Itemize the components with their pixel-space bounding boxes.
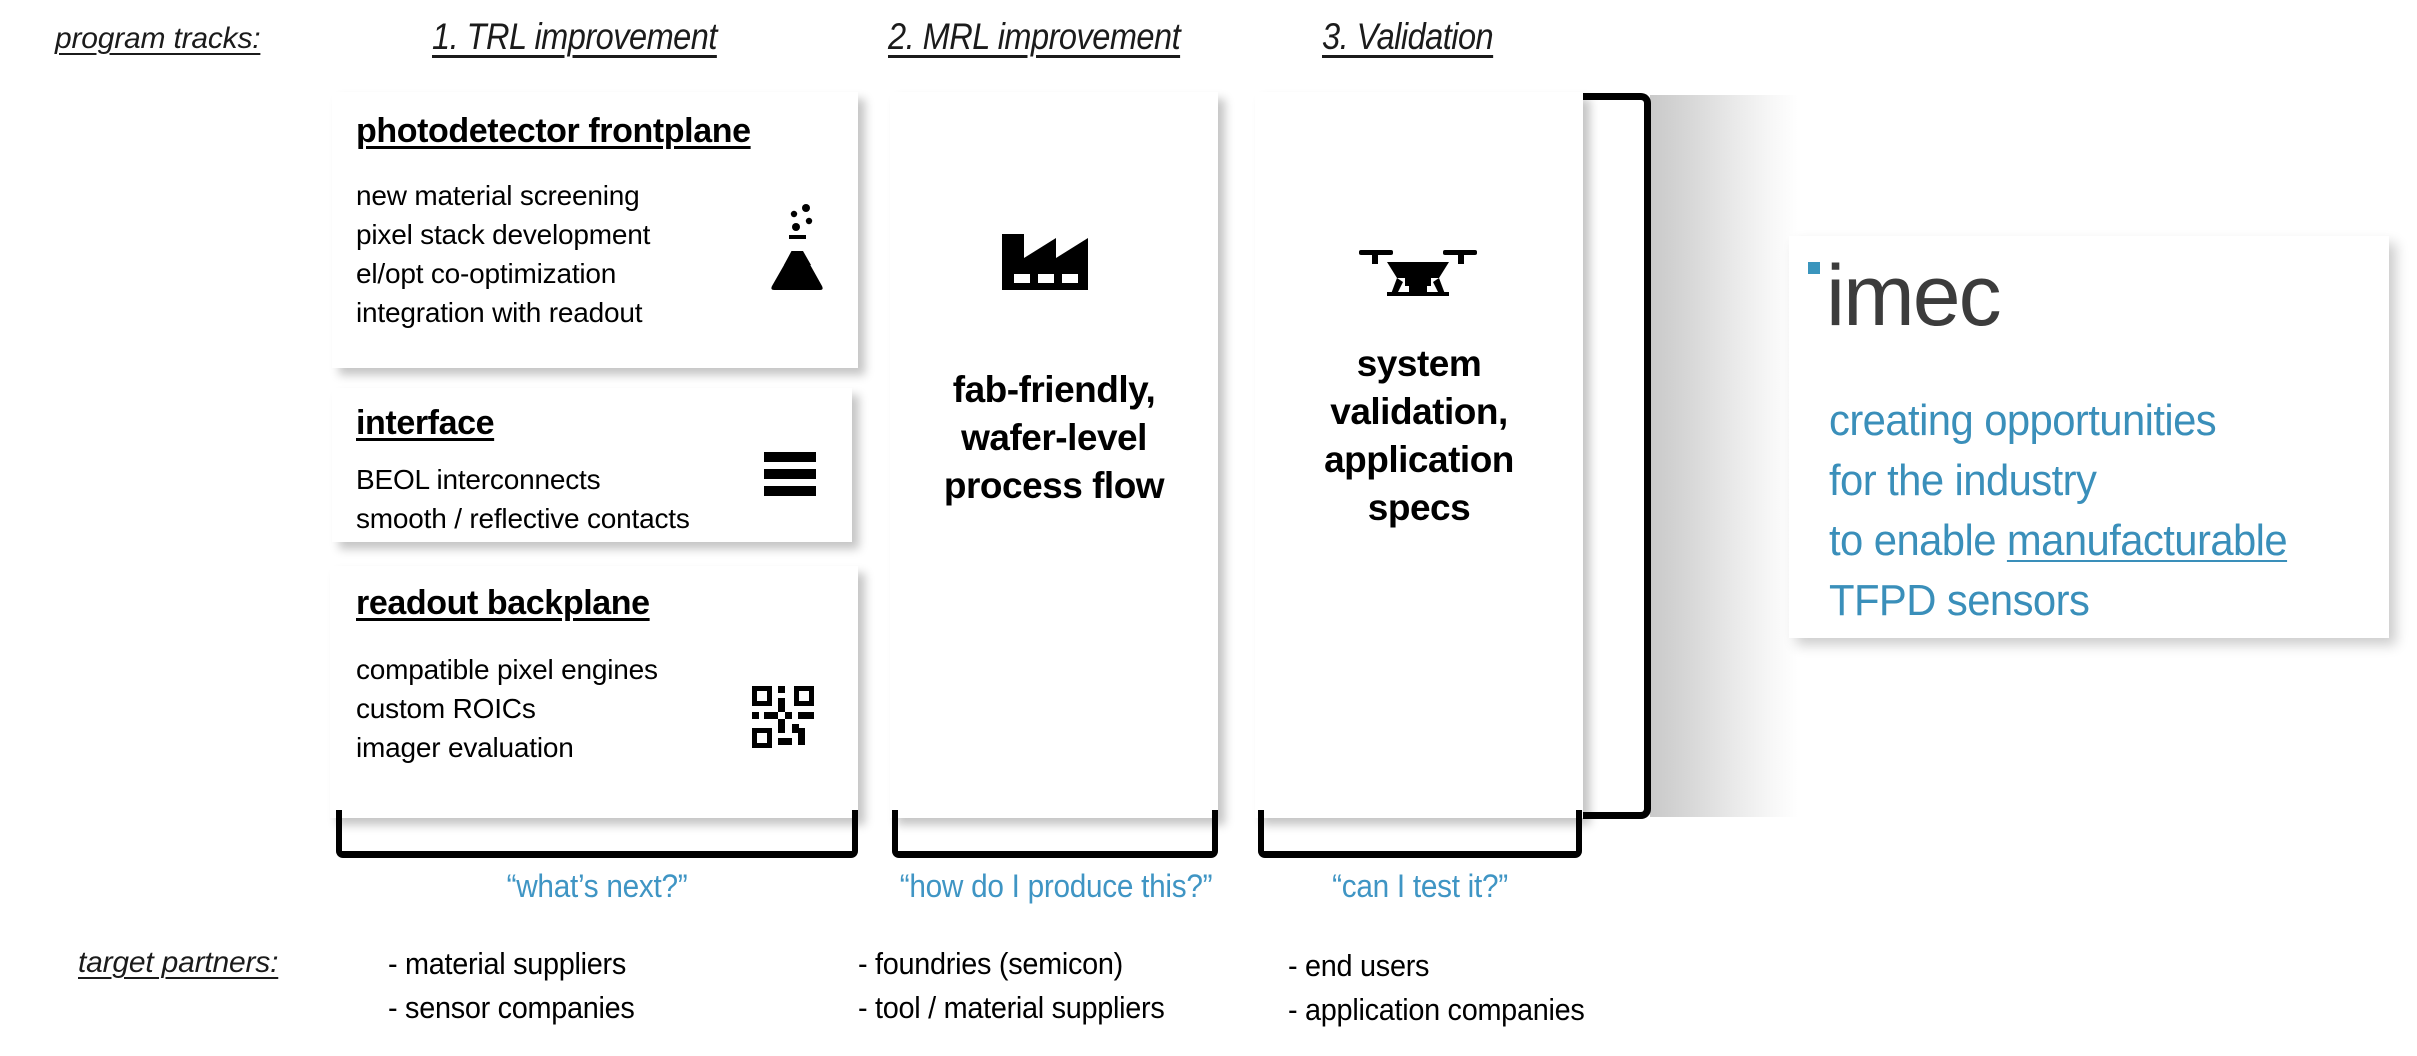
card-text-line: specs [1255,484,1583,532]
quote-validation: “can I test it?” [1269,868,1570,905]
card-text-line: process flow [890,462,1218,510]
card-text-line: wafer-level [890,414,1218,462]
tagline-line-4: TFPD sensors [1829,571,2287,631]
imec-panel: imec creating opportunities for the indu… [1789,236,2389,638]
column-header-validation: 3. Validation [1322,16,1493,58]
tagline-underlined-word: manufacturable [2007,516,2287,565]
card-line: imager evaluation [356,728,658,767]
imec-logo-text: imec [1826,253,2000,339]
card-line: integration with readout [356,293,650,332]
layers-icon [764,450,816,498]
imec-logo-dot [1808,262,1820,274]
card-validation[interactable]: system validation, application specs [1255,92,1583,818]
partners-validation: - end users - application companies [1288,944,1607,1032]
imec-tagline: creating opportunities for the industry … [1829,391,2311,631]
tagline-line-2: for the industry [1829,451,2287,511]
qr-code-icon [752,686,814,748]
card-title: photodetector frontplane [356,112,751,151]
partners-trl: - material suppliers - sensor companies [388,942,653,1030]
card-text-line: fab-friendly, [890,366,1218,414]
flask-icon [766,202,828,292]
card-text-line: system [1255,340,1583,388]
quote-mrl: “how do I produce this?” [861,868,1252,905]
tagline-line-3: to enable manufacturable [1829,511,2287,571]
card-photodetector-frontplane[interactable]: photodetector frontplane new material sc… [332,92,858,368]
group-bracket-validation [1258,810,1582,858]
group-bracket-mrl [892,810,1218,858]
quote-trl: “what’s next?” [354,868,839,905]
group-bracket-right [1583,93,1651,819]
card-mrl-improvement[interactable]: fab-friendly, wafer-level process flow [890,92,1218,818]
card-text-line: validation, [1255,388,1583,436]
card-line: new material screening [356,176,650,215]
card-line: el/opt co-optimization [356,254,650,293]
program-tracks-label: program tracks: [55,22,260,56]
target-partners-label: target partners: [78,946,278,980]
card-text: fab-friendly, wafer-level process flow [890,366,1218,510]
card-text: system validation, application specs [1255,340,1583,532]
group-bracket-trl [336,810,858,858]
tagline-line-1: creating opportunities [1829,391,2287,451]
card-body: compatible pixel engines custom ROICs im… [356,650,658,767]
card-body: new material screening pixel stack devel… [356,176,650,332]
card-text-line: application [1255,436,1583,484]
card-title: interface [356,404,494,443]
partner-item: - sensor companies [388,986,635,1030]
column-header-mrl: 2. MRL improvement [888,16,1180,58]
partners-mrl: - foundries (semicon) - tool / material … [858,942,1188,1030]
partner-item: - end users [1288,944,1584,988]
card-readout-backplane[interactable]: readout backplane compatible pixel engin… [330,566,858,818]
partner-item: - material suppliers [388,942,635,986]
card-line: custom ROICs [356,689,658,728]
drone-icon [1357,242,1479,304]
partner-item: - foundries (semicon) [858,942,1165,986]
card-body: BEOL interconnects smooth / reflective c… [356,460,690,538]
factory-icon [1002,228,1106,290]
gradient-band [1650,95,1798,817]
card-line: compatible pixel engines [356,650,658,689]
partner-item: - tool / material suppliers [858,986,1165,1030]
card-line: smooth / reflective contacts [356,499,690,538]
card-interface[interactable]: interface BEOL interconnects smooth / re… [332,388,852,542]
card-line: pixel stack development [356,215,650,254]
column-header-trl: 1. TRL improvement [432,16,717,58]
card-line: BEOL interconnects [356,460,690,499]
partner-item: - application companies [1288,988,1584,1032]
card-title: readout backplane [356,584,650,623]
